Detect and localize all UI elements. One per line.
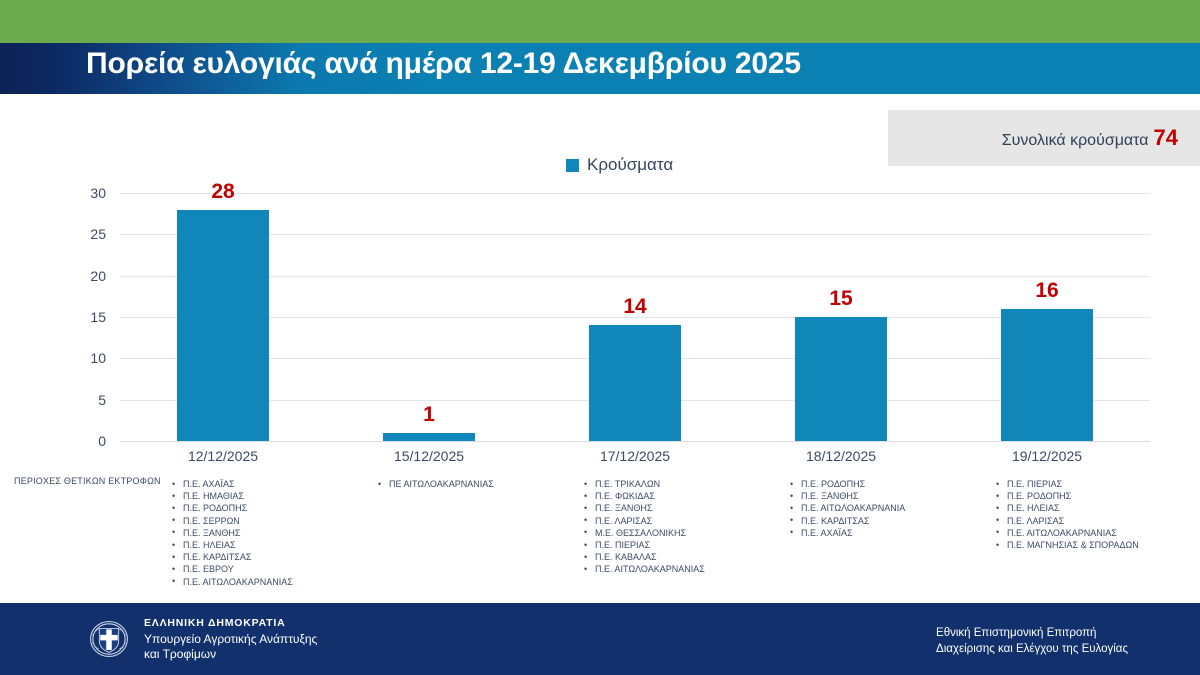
region-column-15-12-2025: ΠΕ ΑΙΤΩΛΟΑΚΑΡΝΑΝΙΑΣ [326,478,532,588]
region-list-item: Μ.Ε. ΘΕΣΣΑΛΟΝΙΚΗΣ [584,527,738,539]
bar-cell: 14 [532,193,738,441]
bar-value-label: 14 [623,295,646,319]
x-axis-label: 12/12/2025 [120,448,326,464]
committee-line-1: Εθνική Επιστημονική Επιτροπή [936,625,1128,641]
y-axis-tick-label: 25 [10,226,106,242]
y-axis-tick-label: 20 [10,268,106,284]
bar-value-label: 28 [211,180,234,204]
bar-17-12-2025[interactable] [589,325,681,441]
region-list-item: Π.Ε. ΤΡΙΚΑΛΩΝ [584,478,738,490]
region-list-item: Π.Ε. ΗΛΕΙΑΣ [172,539,326,551]
ministry-line-2: Υπουργείο Αγροτικής Ανάπτυξης [144,632,317,648]
bar-cell: 28 [120,193,326,441]
region-list-item: Π.Ε. ΑΧΑΪΑΣ [172,478,326,490]
bar-15-12-2025[interactable] [383,433,475,441]
region-list-item: Π.Ε. ΛΑΡΙΣΑΣ [584,515,738,527]
region-list-item: Π.Ε. ΡΟΔΟΠΗΣ [996,490,1150,502]
page-title: Πορεία ευλογιάς ανά ημέρα 12-19 Δεκεμβρί… [86,47,801,81]
bar-19-12-2025[interactable] [1001,309,1093,441]
region-column-18-12-2025: Π.Ε. ΡΟΔΟΠΗΣΠ.Ε. ΞΑΝΘΗΣΠ.Ε. ΑΙΤΩΛΟΑΚΑΡΝΑ… [738,478,944,588]
region-list-item: Π.Ε. ΦΩΚΙΔΑΣ [584,490,738,502]
legend-label-cases: Κρούσματα [587,155,673,175]
bar-series: 281141516 [120,193,1150,441]
region-list-item: Π.Ε. ΠΙΕΡΙΑΣ [996,478,1150,490]
region-list-item: Π.Ε. ΚΑΡΔΙΤΣΑΣ [790,515,944,527]
bar-cell: 15 [738,193,944,441]
region-column-12-12-2025: Π.Ε. ΑΧΑΪΑΣΠ.Ε. ΗΜΑΘΙΑΣΠ.Ε. ΡΟΔΟΠΗΣΠ.Ε. … [120,478,326,588]
region-list-item: Π.Ε. ΠΙΕΡΙΑΣ [584,539,738,551]
regions-columns: Π.Ε. ΑΧΑΪΑΣΠ.Ε. ΗΜΑΘΙΑΣΠ.Ε. ΡΟΔΟΠΗΣΠ.Ε. … [120,478,1150,588]
ministry-line-1: ΕΛΛΗΝΙΚΗ ΔΗΜΟΚΡΑΤΙΑ [144,616,317,632]
y-axis-tick-label: 5 [10,392,106,408]
top-green-band [0,0,1200,43]
x-axis-label: 18/12/2025 [738,448,944,464]
region-list-item: Π.Ε. ΑΙΤΩΛΟΑΚΑΡΝΑΝΙΑΣ [584,563,738,575]
region-list-item: Π.Ε. ΑΧΑΪΑΣ [790,527,944,539]
bar-value-label: 1 [423,403,435,427]
region-list-item: Π.Ε. ΡΟΔΟΠΗΣ [172,502,326,514]
y-axis-tick-label: 30 [10,185,106,201]
region-list-item: Π.Ε. ΑΙΤΩΛΟΑΚΑΡΝΑΝΙΑ [790,502,944,514]
region-list-item: Π.Ε. ΗΛΕΙΑΣ [996,502,1150,514]
x-axis-labels: 12/12/202515/12/202517/12/202518/12/2025… [120,448,1150,464]
chart-legend: Κρούσματα [566,155,673,175]
region-list-item: Π.Ε. ΛΑΡΙΣΑΣ [996,515,1150,527]
region-list-item: Π.Ε. ΑΙΤΩΛΟΑΚΑΡΝΑΝΙΑΣ [996,527,1150,539]
committee-text: Εθνική Επιστημονική Επιτροπή Διαχείρισης… [936,625,1128,657]
x-axis-label: 15/12/2025 [326,448,532,464]
x-axis-label: 19/12/2025 [944,448,1150,464]
region-list-item: Π.Ε. ΣΕΡΡΩΝ [172,515,326,527]
x-axis-label: 17/12/2025 [532,448,738,464]
region-list-item: Π.Ε. ΜΑΓΝΗΣΙΑΣ & ΣΠΟΡΑΔΩΝ [996,539,1150,551]
square-swatch-icon [566,159,579,172]
total-cases-box: Συνολικά κρούσματα74 [888,110,1200,166]
region-list-item: Π.Ε. ΞΑΝΘΗΣ [172,527,326,539]
region-list-item: Π.Ε. ΗΜΑΘΙΑΣ [172,490,326,502]
ministry-text: ΕΛΛΗΝΙΚΗ ΔΗΜΟΚΡΑΤΙΑ Υπουργείο Αγροτικής … [144,616,317,663]
committee-line-2: Διαχείρισης και Ελέγχου της Ευλογίας [936,641,1128,657]
bar-value-label: 15 [829,287,852,311]
bar-value-label: 16 [1035,279,1058,303]
ministry-line-3: και Τροφίμων [144,647,317,663]
bar-chart: 051015202530 281141516 [0,180,1200,442]
y-axis-tick-label: 0 [10,433,106,449]
total-cases-label: Συνολικά κρούσματα [1002,132,1149,149]
region-list-item: Π.Ε. ΡΟΔΟΠΗΣ [790,478,944,490]
region-list-item: ΠΕ ΑΙΤΩΛΟΑΚΑΡΝΑΝΙΑΣ [378,478,532,490]
slide-root: Πορεία ευλογιάς ανά ημέρα 12-19 Δεκεμβρί… [0,0,1200,675]
region-list-item: Π.Ε. ΞΑΝΘΗΣ [790,490,944,502]
hellenic-republic-emblem-icon [86,616,132,662]
total-cases-value: 74 [1154,125,1178,150]
y-axis-tick-label: 10 [10,350,106,366]
total-cases-inner: Συνολικά κρούσματα74 [888,125,1178,151]
y-axis-tick-label: 15 [10,309,106,325]
region-list-item: Π.Ε. ΕΒΡΟΥ [172,563,326,575]
region-column-19-12-2025: Π.Ε. ΠΙΕΡΙΑΣΠ.Ε. ΡΟΔΟΠΗΣΠ.Ε. ΗΛΕΙΑΣΠ.Ε. … [944,478,1150,588]
region-list-item: Π.Ε. ΚΑΡΔΙΤΣΑΣ [172,551,326,563]
footer-ministry-block: ΕΛΛΗΝΙΚΗ ΔΗΜΟΚΡΑΤΙΑ Υπουργείο Αγροτικής … [86,616,317,663]
gridline [120,441,1150,442]
region-list-item: Π.Ε. ΚΑΒΑΛΑΣ [584,551,738,563]
bar-18-12-2025[interactable] [795,317,887,441]
bar-cell: 16 [944,193,1150,441]
bar-12-12-2025[interactable] [177,210,269,441]
footer-bar: ΕΛΛΗΝΙΚΗ ΔΗΜΟΚΡΑΤΙΑ Υπουργείο Αγροτικής … [0,603,1200,675]
region-list-item: Π.Ε. ΞΑΝΘΗΣ [584,502,738,514]
region-list-item: Π.Ε. ΑΙΤΩΛΟΑΚΑΡΝΑΝΙΑΣ [172,576,326,588]
bar-cell: 1 [326,193,532,441]
region-column-17-12-2025: Π.Ε. ΤΡΙΚΑΛΩΝΠ.Ε. ΦΩΚΙΔΑΣΠ.Ε. ΞΑΝΘΗΣΠ.Ε.… [532,478,738,588]
